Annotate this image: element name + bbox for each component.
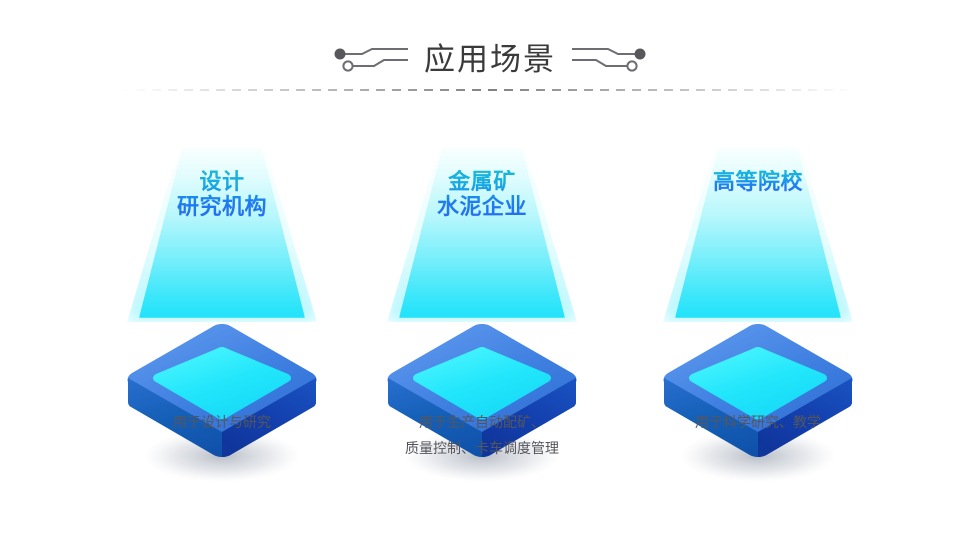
cube-icon (112, 250, 332, 480)
circuit-line-ornament-left (332, 45, 410, 75)
scene-caption: 用于设计与研究 (72, 410, 372, 436)
scene-caption: 用于生产自动配矿、 质量控制、卡车调度管理 (332, 410, 632, 462)
scene-card-higher-education[interactable]: 高等院校 (608, 110, 908, 510)
circuit-line-ornament-right (570, 45, 648, 75)
scene-label: 设计 研究机构 (72, 170, 372, 220)
title-row: 应用场景 (0, 38, 980, 82)
scene-caption: 用于科学研究、教学 (608, 410, 908, 436)
scene-label: 金属矿 水泥企业 (332, 170, 632, 220)
page-title: 应用场景 (424, 38, 556, 82)
scene-cards: 设计 研究机构 (0, 110, 980, 543)
dashed-divider (120, 89, 860, 91)
scene-label: 高等院校 (608, 170, 908, 195)
cube-icon (648, 250, 868, 480)
scene-card-design-research[interactable]: 设计 研究机构 (72, 110, 372, 510)
page-header: 应用场景 (0, 0, 980, 110)
scene-card-metal-mine-cement[interactable]: 金属矿 水泥企业 (332, 110, 632, 510)
